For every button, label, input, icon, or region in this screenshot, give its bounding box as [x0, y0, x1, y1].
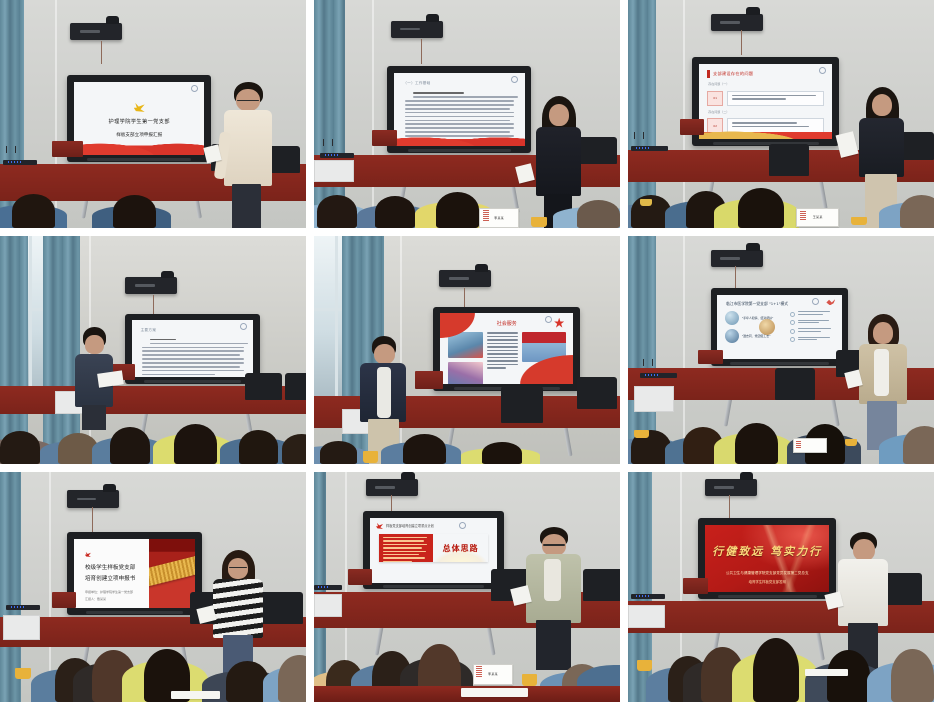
audience-head [174, 424, 217, 464]
display-screen: 支部建设存在的问题 存在问题（一） 01 存在问题（二） 02 [699, 64, 832, 139]
av-equipment [631, 594, 665, 599]
paper-cup-icon [851, 217, 866, 226]
collage-photo-8[interactable]: 样板党支部培育创建立项重点计划 总体思路 [314, 472, 620, 702]
podium [680, 119, 704, 135]
namecard-label: 王某某 [813, 215, 823, 219]
party-emblem-icon [85, 552, 91, 557]
handout-paper [461, 688, 528, 697]
bullet-dot-icon [790, 312, 795, 317]
audience-row: 李某某 [314, 169, 620, 228]
podium [683, 578, 707, 594]
slide-header-row: 样板党支部培育创建立项重点计划 [376, 523, 434, 529]
audience-head [375, 196, 415, 228]
slide-watermark-icon [511, 76, 518, 83]
ceiling-projector-icon [125, 277, 177, 294]
audience-row: 李某某 [314, 615, 620, 702]
podium [698, 350, 722, 364]
slide-title-panel1: 护理学院学生第一党支部 样板支部立项申报汇报 汇报人 [74, 82, 204, 155]
namecard-stripe [800, 210, 807, 220]
presenter-head [549, 104, 569, 126]
projector-cable [735, 266, 736, 289]
audience-row [0, 396, 306, 464]
audience-row [0, 173, 306, 228]
presenter-shirt [377, 367, 391, 418]
smart-display-icon[interactable]: 临江市医学院第一党支部 "1+1"模式 "手牵人和情、结对帮扶" "遵志同、党团… [711, 288, 849, 366]
slide-section-header: （一）工作基础 [403, 81, 430, 86]
slide-title-line2: 培育创建立项申报书 [85, 574, 149, 582]
antenna-icon [652, 359, 653, 366]
antenna-icon [643, 132, 644, 139]
photo-collage-grid: 护理学院学生第一党支部 样板支部立项申报汇报 汇报人 [0, 0, 939, 704]
ceiling-projector-icon [439, 270, 491, 287]
podium [52, 592, 76, 608]
slide-text-block [487, 332, 518, 384]
av-equipment [320, 153, 354, 158]
party-emblem-icon [134, 103, 145, 112]
namecard-stripe [483, 210, 489, 221]
projector-cable [741, 30, 742, 55]
display-screen: （一）工作基础 [394, 73, 524, 146]
office-chair-icon [501, 386, 544, 422]
audience-head [738, 188, 784, 228]
sunburst-decor [433, 550, 488, 563]
av-equipment [6, 605, 40, 610]
ceiling-projector-icon [711, 250, 763, 267]
red-flourish-logo-icon [826, 298, 835, 305]
collage-photo-2[interactable]: （一）工作基础 [314, 0, 620, 228]
audience-row: 王某某 [628, 164, 934, 228]
slide-picture-text-panel5: 社会服务 [440, 313, 573, 384]
slide-watermark-icon [819, 67, 826, 74]
card-body [727, 91, 824, 106]
display-screen: 校级学生样板党支部 培育创建立项申报书 申报单位：护理学院学生第一党支部 汇报人… [74, 539, 195, 608]
slide-watermark-icon [191, 85, 198, 92]
banner-right-gold: 总体思路 [433, 534, 488, 562]
diagram-bullet [790, 337, 834, 343]
diagram-item: "手牵人和情、结对帮扶" [725, 311, 784, 325]
namecard-label: 李某某 [488, 672, 498, 676]
slide-card-row: 01 [707, 91, 824, 106]
podium [415, 371, 443, 389]
slide-title-line1: 校级学生样板党支部 [85, 563, 149, 571]
smart-display-icon[interactable]: 支部建设存在的问题 存在问题（一） 01 存在问题（二） 02 [692, 57, 839, 146]
paper-cup-icon [531, 217, 546, 226]
slide-document-panel2: （一）工作基础 [394, 73, 524, 146]
paper-cup-icon [637, 660, 652, 671]
office-chair-icon [583, 569, 620, 601]
antenna-icon [323, 139, 324, 146]
antenna-icon [643, 359, 644, 366]
collage-photo-9[interactable]: 行健致远 笃实力行 公共卫生与健康管理学院党支部党员发展第二党总支 培育学生样板… [628, 472, 934, 702]
slide-cardlist-panel3: 支部建设存在的问题 存在问题（一） 01 存在问题（二） 02 [699, 64, 832, 139]
presenter-head [872, 94, 893, 117]
diagram-photo-circle [725, 311, 739, 325]
slide-watermark-icon [240, 323, 247, 330]
slide-red-wave-decor [74, 139, 204, 155]
audience-head [0, 431, 40, 464]
display-bezel [87, 158, 191, 161]
presenter-head [374, 344, 395, 364]
slide-diagram-panel6: 临江市医学院第一党支部 "1+1"模式 "手牵人和情、结对帮扶" "遵志同、党团… [717, 295, 841, 359]
av-equipment [631, 146, 668, 151]
drum-tassel-decor [149, 556, 195, 587]
antenna-icon [332, 139, 333, 146]
antenna-icon [634, 132, 635, 139]
slide-title-text: 护理学院学生第一党支部 [108, 118, 169, 125]
paper-cup-icon [640, 199, 652, 206]
slide-hero-panel9: 行健致远 笃实力行 公共卫生与健康管理学院党支部党员发展第二党总支 培育学生样板… [705, 525, 829, 592]
ceiling-projector-icon [711, 14, 763, 31]
presenter-head [853, 539, 875, 561]
smart-display-icon[interactable]: 校级学生样板党支部 培育创建立项申报书 申报单位：护理学院学生第一党支部 汇报人… [67, 532, 202, 615]
slide-corner-decor [440, 313, 475, 337]
slide-watermark-icon [459, 522, 466, 529]
projector-cable [101, 41, 102, 64]
projector-cable [92, 507, 93, 532]
collage-photo-4[interactable]: 主要方案 [0, 236, 306, 464]
av-equipment [640, 373, 677, 378]
slide-section-header: 主要方案 [141, 328, 157, 333]
office-chair-icon [577, 377, 617, 409]
slide-watermark-icon [545, 316, 552, 323]
paper-cup-icon [634, 430, 649, 438]
diagram-left-column: "手牵人和情、结对帮扶" "遵志同、党团促工志" [725, 311, 784, 347]
slide-red-wave-decor [394, 134, 524, 146]
slide-title-text: 支部建设存在的问题 [707, 70, 753, 78]
ceiling-projector-icon [705, 479, 757, 496]
slide-line2-text: 培育学生样板党支部答辩 [749, 579, 786, 584]
podium [52, 141, 83, 157]
presenter-shirt [874, 349, 889, 396]
bullet-dot-icon [790, 329, 795, 334]
display-bezel [144, 380, 241, 383]
smart-display-icon[interactable]: 行健致远 笃实力行 公共卫生与健康管理学院党支部党员发展第二党总支 培育学生样板… [698, 518, 836, 599]
slide-image-column [448, 332, 483, 384]
audience-head [320, 441, 357, 464]
diagram-photo-circle [725, 329, 739, 343]
slide-title-text: 临江市医学院第一党支部 "1+1"模式 [726, 301, 788, 307]
podium [372, 130, 396, 146]
ceiling-projector-icon [70, 23, 122, 40]
card-badge: 01 [707, 91, 723, 106]
bullet-dot-icon [790, 337, 795, 342]
audience-row [0, 624, 306, 702]
display-screen: 主要方案 [132, 320, 253, 377]
diagram-item: "遵志同、党团促工志" [725, 329, 784, 343]
display-bezel [718, 595, 817, 598]
glasses-icon [543, 544, 565, 546]
namecard: 王某某 [796, 208, 839, 227]
display-screen: 护理学院学生第一党支部 样板支部立项申报汇报 汇报人 [74, 82, 204, 155]
audience-head [317, 195, 357, 228]
slide-body-lines [142, 339, 244, 378]
bullet-dot-icon [790, 320, 795, 325]
display-bezel [86, 611, 183, 614]
display-screen: 样板党支部培育创建立项重点计划 总体思路 [370, 518, 497, 583]
diagram-bullet-list [790, 311, 834, 347]
audience-head [903, 426, 934, 464]
paper-cup-icon [363, 451, 378, 463]
presenter-head [873, 322, 893, 344]
handout-paper [805, 669, 848, 676]
namecard: 李某某 [473, 664, 513, 685]
presenter-head [85, 335, 104, 353]
slide-diagram-body: "手牵人和情、结对帮扶" "遵志同、党团促工志" [725, 311, 834, 347]
display-screen: 社会服务 [440, 313, 573, 384]
slide-title-text: 社会服务 [497, 320, 517, 327]
slide-watermark-icon [812, 298, 819, 305]
slide-line1-text: 公共卫生与健康管理学院党支部党员发展第二党总支 [726, 571, 809, 576]
slide-split-title-panel7: 校级学生样板党支部 培育创建立项申报书 申报单位：护理学院学生第一党支部 汇报人… [74, 539, 195, 608]
side-table [314, 594, 342, 617]
diagram-bullet [790, 320, 834, 326]
collage-photo-6[interactable]: 临江市医学院第一党支部 "1+1"模式 "手牵人和情、结对帮扶" "遵志同、党团… [628, 236, 934, 464]
window-mullion [29, 236, 32, 396]
red-star-logo-icon [554, 318, 564, 328]
window-mullion [335, 236, 338, 396]
ceiling-projector-icon [391, 21, 443, 38]
collage-photo-5[interactable]: 社会服务 [314, 236, 620, 464]
slide-section-1: 存在问题（一） [708, 82, 729, 86]
ceiling-projector-icon [67, 490, 119, 507]
audience-head [278, 655, 306, 702]
audience-head [239, 430, 279, 464]
slide-gold-wave-decor [699, 128, 832, 139]
glasses-icon [237, 100, 259, 102]
slide-banner: 总体思路 [379, 534, 488, 562]
display-screen: 行健致远 笃实力行 公共卫生与健康管理学院党支部党员发展第二党总支 培育学生样板… [705, 525, 829, 592]
diagram-bullet [790, 311, 834, 317]
audience-head [110, 427, 150, 464]
banner-left-text [379, 534, 434, 562]
namecard [793, 438, 827, 453]
projector-cable [153, 295, 154, 316]
audience-head [282, 434, 306, 464]
paper-cup-icon [845, 439, 857, 446]
collage-photo-7[interactable]: 校级学生样板党支部 培育创建立项申报书 申报单位：护理学院学生第一党支部 汇报人… [0, 472, 306, 702]
diagram-bullet [790, 328, 834, 334]
handout-paper [171, 691, 220, 699]
display-bezel [730, 362, 829, 365]
slide-meta-line1: 申报单位：护理学院学生第一党支部 [85, 590, 149, 594]
paper-cup-icon [15, 668, 30, 679]
audience-head [827, 650, 870, 702]
display-bezel [408, 149, 512, 152]
paper-cup-icon [522, 674, 537, 686]
projector-cable [729, 495, 730, 518]
audience-head [753, 638, 799, 702]
namecard: 李某某 [479, 208, 519, 228]
slide-photo [448, 362, 483, 384]
collage-photo-3[interactable]: 支部建设存在的问题 存在问题（一） 01 存在问题（二） 02 [628, 0, 934, 228]
ceiling-projector-icon [366, 479, 418, 496]
audience-head [577, 200, 620, 228]
smart-display-icon[interactable]: 护理学院学生第一党支部 样板支部立项申报汇报 汇报人 [67, 75, 211, 162]
audience-head [436, 192, 479, 228]
audience-row [314, 423, 620, 464]
antenna-icon [6, 146, 7, 153]
smart-display-icon[interactable]: 样板党支部培育创建立项重点计划 总体思路 [363, 511, 504, 589]
audience-head [891, 649, 934, 702]
handheld-paper [824, 591, 843, 610]
party-emblem-icon [376, 523, 383, 529]
presenter-shirt [544, 559, 561, 602]
av-equipment [314, 585, 342, 590]
collage-photo-1[interactable]: 护理学院学生第一党支部 样板支部立项申报汇报 汇报人 [0, 0, 306, 228]
namecard-label: 李某某 [494, 216, 504, 220]
namecard-stripe [476, 666, 482, 677]
antenna-icon [15, 146, 16, 153]
smart-display-icon[interactable]: 社会服务 [433, 307, 580, 391]
slide-meta-line2: 汇报人：戴某某 [85, 597, 149, 601]
slide-section-2: 存在问题（二） [708, 110, 729, 114]
audience-head [113, 195, 156, 228]
slide-subtitle-text: 样板支部立项申报汇报 [116, 132, 162, 138]
audience-head [403, 434, 446, 464]
slide-document-panel4: 主要方案 [132, 320, 253, 377]
slide-corner-decor [520, 355, 573, 385]
podium [348, 569, 372, 585]
av-equipment [3, 160, 37, 165]
projector-cable [464, 288, 465, 306]
slide-right-photo [149, 539, 195, 608]
smart-display-icon[interactable]: 主要方案 [125, 314, 260, 385]
smart-display-icon[interactable]: （一）工作基础 [387, 66, 531, 153]
audience-head [735, 423, 778, 464]
presenter-head [228, 558, 249, 579]
slide-calligraphy-text: 行健致远 笃实力行 [712, 543, 822, 559]
namecard-stripe [796, 440, 801, 448]
display-bezel [383, 585, 484, 588]
audience-row [628, 610, 934, 702]
audience-head [900, 195, 934, 228]
audience-head [12, 194, 55, 228]
audience-row [628, 396, 934, 464]
display-screen: 临江市医学院第一党支部 "1+1"模式 "手牵人和情、结对帮扶" "遵志同、党团… [717, 295, 841, 359]
slide-banner-panel8: 样板党支部培育创建立项重点计划 总体思路 [370, 518, 497, 583]
projector-cable [421, 39, 422, 64]
slide-left-text: 校级学生样板党支部 培育创建立项申报书 申报单位：护理学院学生第一党支部 汇报人… [74, 539, 149, 608]
audience-head [482, 442, 522, 464]
slide-header-text: 样板党支部培育创建立项重点计划 [386, 523, 434, 528]
diagram-center-circle [759, 319, 775, 335]
